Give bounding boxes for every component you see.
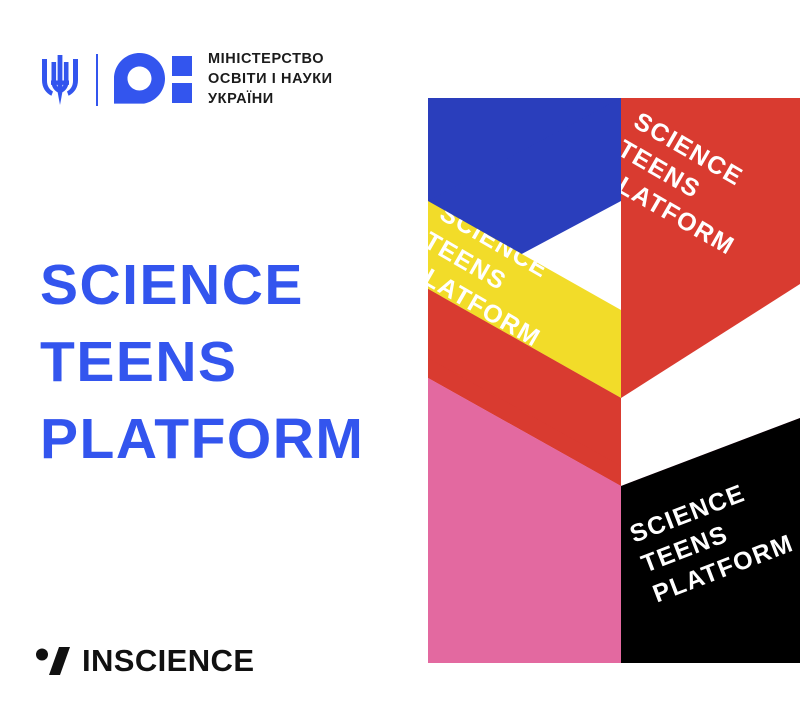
ministry-line-2: ОСВІТИ І НАУКИ <box>208 70 333 90</box>
ukraine-trident-emblem <box>40 53 80 107</box>
mon-o-equals-mark <box>114 53 192 107</box>
ministry-lockup: МІНІСТЕРСТВО ОСВІТИ І НАУКИ УКРАЇНИ <box>40 44 333 116</box>
lockup-divider <box>96 54 98 106</box>
page-title: SCIENCE TEENS PLATFORM <box>40 247 364 478</box>
inscience-wordmark: INSCIENCE <box>82 645 254 676</box>
ministry-name: МІНІСТЕРСТВО ОСВІТИ І НАУКИ УКРАЇНИ <box>208 50 333 109</box>
ministry-line-3: УКРАЇНИ <box>208 90 333 110</box>
inscience-slash-mark <box>36 647 70 675</box>
logo-face-black: SCIENCE TEENS PLATFORM <box>621 418 800 663</box>
ministry-line-1: МІНІСТЕРСТВО <box>208 50 333 70</box>
headline-line-3: PLATFORM <box>40 401 364 478</box>
inscience-logo: INSCIENCE <box>36 645 254 676</box>
logo-face-red-right: SCIENCE TEENS PLATFORM <box>597 98 800 398</box>
headline-line-2: TEENS <box>40 324 364 401</box>
poster-canvas: МІНІСТЕРСТВО ОСВІТИ І НАУКИ УКРАЇНИ SCIE… <box>0 0 800 717</box>
isometric-s-logo: SCIENCE TEENS PLATFORM SCIENCE TEENS PLA… <box>400 88 800 663</box>
headline-line-1: SCIENCE <box>40 247 364 324</box>
